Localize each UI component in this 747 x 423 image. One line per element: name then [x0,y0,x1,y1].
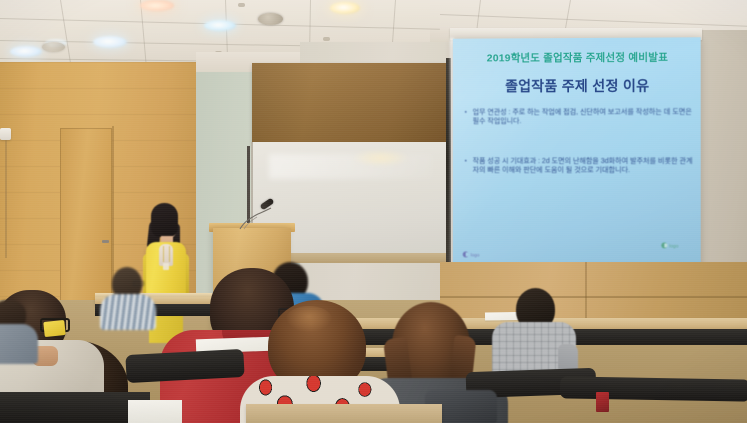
wall-wood-right-lower-line [440,296,747,298]
red-can [596,392,609,412]
wall-conduit [5,140,7,258]
slide-bullet-item: • 작품 성공 시 기대효과 : 2d 도면의 난해함을 3d화하여 발주처를 … [463,157,695,176]
ceiling-light [204,20,236,31]
attendee-far-left-edge [0,300,40,360]
lanyard [163,246,170,262]
slide-bullet-text: 업무 연관성 : 주로 하는 작업에 접검, 신단하여 보고서를 작성하는 데 … [473,108,695,127]
slide-bullet-list: • 업무 연관성 : 주로 하는 작업에 접검, 신단하여 보고서를 작성하는 … [463,108,695,206]
presenter-hair-top [151,203,178,237]
ceiling-light [140,0,174,11]
ceiling-sprinkler [323,37,330,41]
ceiling-light [93,36,127,48]
projection-screen: 2019학년도 졸업작품 주제선정 예비발표 졸업작품 주제 선정 이유 • 업… [453,37,701,266]
microphone-stem [238,206,276,228]
desk-foreground [246,404,442,423]
ceiling-sprinkler [238,3,245,7]
desk-paper [128,400,182,423]
slide-header-text: 2019학년도 졸업작품 주제선정 예비발표 [462,49,694,65]
slide-logo-left-text: logo [471,252,480,257]
slide-logo-left: logo [463,251,480,257]
slide-bullet-item: • 업무 연관성 : 주로 하는 작업에 접검, 신단하여 보고서를 작성하는 … [463,108,695,127]
yellow-phone[interactable] [43,320,65,337]
lecture-hall-photo: 2019학년도 졸업작품 주제선정 예비발표 졸업작품 주제 선정 이유 • 업… [0,0,747,423]
ceiling-speaker [258,13,283,25]
slide-logo-right-text: logo [669,243,678,248]
wall-fixture [0,128,11,140]
ceiling-light [330,2,360,14]
attendee-torso [0,324,38,364]
ceiling-speaker [42,42,65,52]
attendee-hair-highlight [286,306,332,332]
logo-mark-icon [661,242,667,248]
glasses-icon [133,281,144,286]
logo-mark-icon [463,251,469,257]
slide-bullet-text: 작품 성공 시 기대효과 : 2d 도면의 난해함을 3d화하여 발주처를 비롯… [473,157,695,176]
slide-logo-right: logo [661,242,678,248]
bullet-marker-icon: • [463,157,469,176]
chair-back [560,376,747,401]
slide-heading-text: 졸업작품 주제 선정 이유 [462,76,694,97]
door-handle[interactable] [102,240,109,243]
ceiling-light [10,46,42,57]
whiteboard-glare-spot [351,149,410,167]
bullet-marker-icon: • [463,108,469,127]
wall-brown-panel [252,63,448,146]
